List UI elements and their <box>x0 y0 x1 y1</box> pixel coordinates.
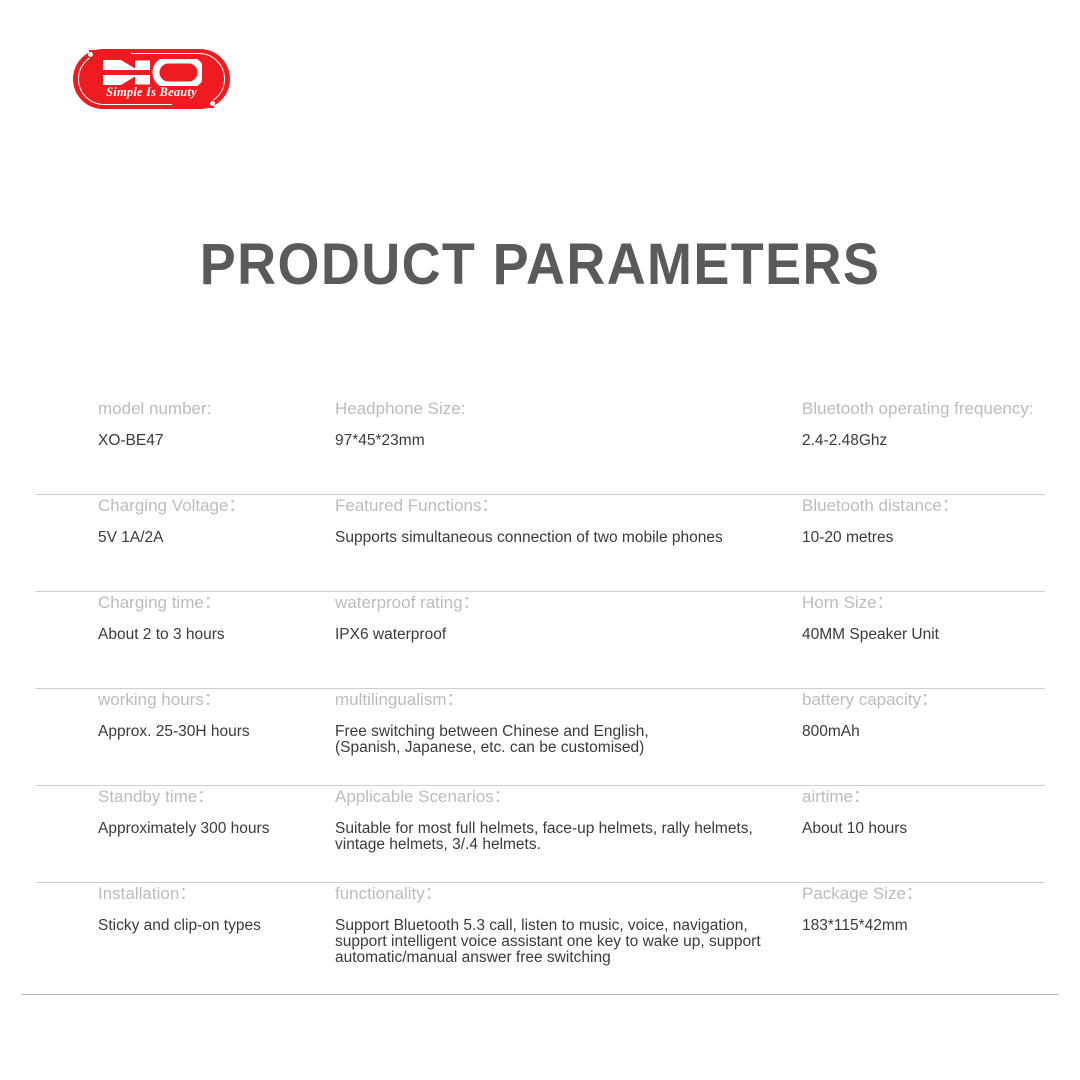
spec-table: model number: XO-BE47 Headphone Size: 97… <box>0 398 1080 980</box>
page-title: PRODUCT PARAMETERS <box>38 231 1042 298</box>
spec-cell: airtime： About 10 hours <box>802 786 1080 837</box>
spec-value: Approximately 300 hours <box>98 821 326 837</box>
spec-value: 183*115*42mm <box>802 918 1080 934</box>
spec-label: Featured Functions： <box>335 495 790 516</box>
spec-value: 800mAh <box>802 724 1080 740</box>
spec-label: model number: <box>98 398 326 419</box>
spec-row: Standby time： Approximately 300 hours Ap… <box>0 786 1080 883</box>
spec-value: 2.4-2.48Ghz <box>802 433 1080 449</box>
spec-cell: Horn Size： 40MM Speaker Unit <box>802 592 1080 643</box>
logo-ring-gap-bottom <box>172 100 214 108</box>
spec-cell: Bluetooth distance： 10-20 metres <box>802 495 1080 546</box>
spec-label: airtime： <box>802 786 1080 807</box>
spec-label: Charging time： <box>98 592 326 613</box>
spec-label: battery capacity： <box>802 689 1080 710</box>
spec-cell: Charging time： About 2 to 3 hours <box>98 592 326 643</box>
spec-cell: Headphone Size: 97*45*23mm <box>335 398 790 449</box>
spec-cell: Bluetooth operating frequency: 2.4-2.48G… <box>802 398 1080 449</box>
logo-ring-dot-bottom <box>210 101 215 106</box>
spec-value: Sticky and clip-on types <box>98 918 326 934</box>
spec-value: Supports simultaneous connection of two … <box>335 530 790 546</box>
logo-tagline: Simple Is Beauty <box>73 85 230 100</box>
spec-value: Suitable for most full helmets, face-up … <box>335 821 790 853</box>
spec-value: Approx. 25-30H hours <box>98 724 326 740</box>
xo-monogram-icon <box>101 59 202 86</box>
spec-value: About 2 to 3 hours <box>98 627 326 643</box>
spec-value: 5V 1A/2A <box>98 530 326 546</box>
spec-cell: working hours： Approx. 25-30H hours <box>98 689 326 740</box>
spec-value: Free switching between Chinese and Engli… <box>335 724 790 756</box>
spec-cell: multilingualism： Free switching between … <box>335 689 790 756</box>
brand-logo: Simple Is Beauty <box>73 49 230 109</box>
spec-value: 97*45*23mm <box>335 433 790 449</box>
spec-label: waterproof rating： <box>335 592 790 613</box>
spec-label: Bluetooth operating frequency: <box>802 398 1080 419</box>
logo-ring-dot-top <box>88 52 93 57</box>
spec-label: Applicable Scenarios： <box>335 786 790 807</box>
spec-cell: Applicable Scenarios： Suitable for most … <box>335 786 790 853</box>
spec-value: 10-20 metres <box>802 530 1080 546</box>
spec-value: 40MM Speaker Unit <box>802 627 1080 643</box>
spec-value: Support Bluetooth 5.3 call, listen to mu… <box>335 918 790 966</box>
spec-row: model number: XO-BE47 Headphone Size: 97… <box>0 398 1080 495</box>
spec-row: Charging time： About 2 to 3 hours waterp… <box>0 592 1080 689</box>
spec-label: multilingualism： <box>335 689 790 710</box>
footer-divider <box>21 994 1059 995</box>
logo-ring-gap-top <box>89 50 131 58</box>
spec-label: Headphone Size: <box>335 398 790 419</box>
spec-label: Package Size： <box>802 883 1080 904</box>
spec-cell: Standby time： Approximately 300 hours <box>98 786 326 837</box>
spec-row: Installation： Sticky and clip-on types f… <box>0 883 1080 980</box>
spec-cell: Package Size： 183*115*42mm <box>802 883 1080 934</box>
spec-value: IPX6 waterproof <box>335 627 790 643</box>
spec-label: Bluetooth distance： <box>802 495 1080 516</box>
spec-cell: Charging Voltage： 5V 1A/2A <box>98 495 326 546</box>
spec-row: working hours： Approx. 25-30H hours mult… <box>0 689 1080 786</box>
spec-cell: model number: XO-BE47 <box>98 398 326 449</box>
spec-label: Installation： <box>98 883 326 904</box>
spec-label: Charging Voltage： <box>98 495 326 516</box>
spec-cell: waterproof rating： IPX6 waterproof <box>335 592 790 643</box>
spec-row: Charging Voltage： 5V 1A/2A Featured Func… <box>0 495 1080 592</box>
spec-label: working hours： <box>98 689 326 710</box>
spec-cell: Installation： Sticky and clip-on types <box>98 883 326 934</box>
spec-cell: functionality： Support Bluetooth 5.3 cal… <box>335 883 790 966</box>
spec-value: XO-BE47 <box>98 433 326 449</box>
spec-value: About 10 hours <box>802 821 1080 837</box>
spec-cell: battery capacity： 800mAh <box>802 689 1080 740</box>
spec-cell: Featured Functions： Supports simultaneou… <box>335 495 790 546</box>
spec-label: Standby time： <box>98 786 326 807</box>
spec-label: Horn Size： <box>802 592 1080 613</box>
spec-label: functionality： <box>335 883 790 904</box>
